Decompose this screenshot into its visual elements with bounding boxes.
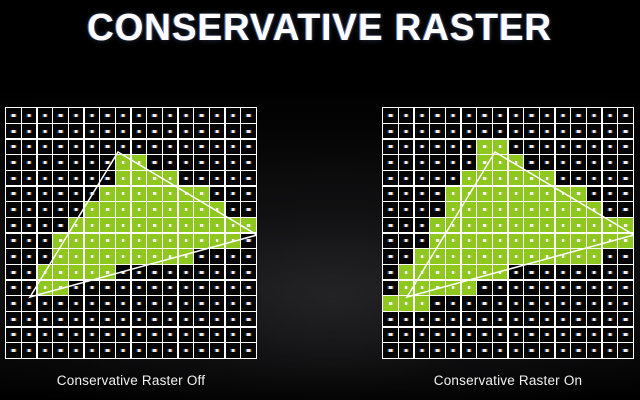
pixel-cell <box>477 343 491 357</box>
pixel-cell <box>179 296 193 310</box>
pixel-cell <box>446 265 460 279</box>
pixel-cell <box>399 312 413 326</box>
pixel-cell <box>147 155 161 169</box>
pixel-cell <box>524 140 538 154</box>
pixel-cell <box>462 234 476 248</box>
pixel-cell <box>587 343 601 357</box>
pixel-cell <box>38 140 52 154</box>
pixel-cell <box>6 328 20 342</box>
pixel-cell <box>22 312 36 326</box>
panel-conservative-raster-off: Conservative Raster Off <box>5 107 257 359</box>
pixel-cell <box>53 234 67 248</box>
pixel-cell <box>383 218 397 232</box>
pixel-cell <box>540 281 554 295</box>
pixel-cell <box>446 296 460 310</box>
pixel-cell <box>100 296 114 310</box>
pixel-cell <box>383 249 397 263</box>
pixel-cell <box>493 140 507 154</box>
pixel-cell <box>462 343 476 357</box>
pixel-cell <box>132 155 146 169</box>
pixel-cell <box>477 140 491 154</box>
pixel-cell <box>509 108 523 122</box>
pixel-cell <box>399 140 413 154</box>
pixel-cell <box>618 296 632 310</box>
pixel-cell <box>430 171 444 185</box>
pixel-cell <box>556 343 570 357</box>
pixel-cell <box>210 265 224 279</box>
pixel-cell <box>493 202 507 216</box>
pixel-cell <box>241 124 255 138</box>
pixel-cell <box>383 234 397 248</box>
pixel-cell <box>147 202 161 216</box>
pixel-cell <box>226 343 240 357</box>
pixel-cell <box>556 265 570 279</box>
pixel-cell <box>116 328 130 342</box>
pixel-cell <box>509 281 523 295</box>
pixel-cell <box>179 249 193 263</box>
pixel-cell <box>556 187 570 201</box>
pixel-cell <box>226 202 240 216</box>
pixel-cell <box>69 202 83 216</box>
pixel-cell <box>100 281 114 295</box>
pixel-cell <box>587 140 601 154</box>
pixel-cell <box>603 171 617 185</box>
pixel-cell <box>241 234 255 248</box>
pixel-cell <box>116 234 130 248</box>
pixel-cell <box>116 281 130 295</box>
pixel-cell <box>38 155 52 169</box>
pixel-cell <box>147 249 161 263</box>
pixel-cell <box>179 218 193 232</box>
pixel-cell <box>179 281 193 295</box>
pixel-cell <box>493 249 507 263</box>
pixel-cell <box>399 187 413 201</box>
pixel-cell <box>509 328 523 342</box>
pixel-cell <box>540 234 554 248</box>
pixel-cell <box>540 265 554 279</box>
pixel-cell <box>226 140 240 154</box>
pixel-cell <box>618 202 632 216</box>
pixel-cell <box>100 265 114 279</box>
pixel-cell <box>383 328 397 342</box>
pixel-cell <box>446 312 460 326</box>
pixel-cell <box>493 218 507 232</box>
pixel-cell <box>571 234 585 248</box>
pixel-cell <box>587 296 601 310</box>
pixel-cell <box>22 187 36 201</box>
pixel-cell <box>226 312 240 326</box>
pixel-cell <box>430 312 444 326</box>
pixel-cell <box>477 249 491 263</box>
pixel-cell <box>132 296 146 310</box>
pixel-cell <box>509 140 523 154</box>
pixel-cell <box>383 108 397 122</box>
pixel-cell <box>587 265 601 279</box>
pixel-cell <box>399 202 413 216</box>
pixel-cell <box>462 312 476 326</box>
pixel-cell <box>383 296 397 310</box>
pixel-cell <box>524 312 538 326</box>
pixel-cell <box>587 328 601 342</box>
pixel-cell <box>493 265 507 279</box>
pixel-cell <box>226 187 240 201</box>
pixel-cell <box>446 171 460 185</box>
pixel-cell <box>179 202 193 216</box>
pixel-cell <box>22 171 36 185</box>
pixel-cell <box>415 124 429 138</box>
pixel-cell <box>22 140 36 154</box>
pixel-cell <box>462 124 476 138</box>
pixel-cell <box>462 328 476 342</box>
pixel-cell <box>556 234 570 248</box>
pixel-cell <box>147 187 161 201</box>
pixel-cell <box>147 296 161 310</box>
pixel-cell <box>462 140 476 154</box>
pixel-cell <box>147 218 161 232</box>
pixel-cell <box>493 281 507 295</box>
pixel-cell <box>179 343 193 357</box>
pixel-cell <box>618 343 632 357</box>
pixel-cell <box>509 265 523 279</box>
pixel-cell <box>38 265 52 279</box>
pixel-cell <box>415 171 429 185</box>
pixel-cell <box>603 249 617 263</box>
pixel-cell <box>69 312 83 326</box>
pixel-cell <box>618 171 632 185</box>
pixel-cell <box>415 328 429 342</box>
pixel-cell <box>147 171 161 185</box>
pixel-cell <box>132 218 146 232</box>
pixel-cell <box>603 218 617 232</box>
pixel-cell <box>618 281 632 295</box>
pixel-cell <box>147 124 161 138</box>
pixel-cell <box>163 140 177 154</box>
pixel-cell <box>556 140 570 154</box>
pixel-cell <box>383 202 397 216</box>
pixel-cell <box>556 218 570 232</box>
pixel-cell <box>6 234 20 248</box>
pixel-cell <box>85 108 99 122</box>
pixel-cell <box>477 328 491 342</box>
pixel-cell <box>226 155 240 169</box>
pixel-cell <box>194 124 208 138</box>
pixel-cell <box>540 343 554 357</box>
pixel-cell <box>241 218 255 232</box>
pixel-cell <box>446 124 460 138</box>
pixel-cell <box>53 171 67 185</box>
pixel-cell <box>603 187 617 201</box>
pixel-cell <box>415 155 429 169</box>
pixel-cell <box>179 155 193 169</box>
pixel-cell <box>6 281 20 295</box>
pixel-cell <box>540 328 554 342</box>
pixel-cell <box>618 328 632 342</box>
pixel-cell <box>38 124 52 138</box>
pixel-cell <box>226 281 240 295</box>
pixel-cell <box>509 218 523 232</box>
pixel-cell <box>571 249 585 263</box>
pixel-cell <box>116 312 130 326</box>
pixel-cell <box>210 249 224 263</box>
pixel-cell <box>179 312 193 326</box>
pixel-cell <box>587 171 601 185</box>
pixel-cell <box>618 140 632 154</box>
pixel-cell <box>163 171 177 185</box>
pixel-cell <box>132 312 146 326</box>
pixel-cell <box>69 343 83 357</box>
pixel-cell <box>430 249 444 263</box>
pixel-cell <box>415 108 429 122</box>
pixel-cell <box>53 281 67 295</box>
pixel-cell <box>116 296 130 310</box>
pixel-cell <box>462 218 476 232</box>
pixel-cell <box>241 108 255 122</box>
pixel-cell <box>116 155 130 169</box>
pixel-cell <box>179 140 193 154</box>
pixel-cell <box>415 343 429 357</box>
pixel-cell <box>462 155 476 169</box>
pixel-cell <box>603 265 617 279</box>
pixel-cell <box>241 140 255 154</box>
pixel-cell <box>415 265 429 279</box>
pixel-cell <box>163 249 177 263</box>
pixel-cell <box>163 218 177 232</box>
pixel-cell <box>477 202 491 216</box>
pixel-cell <box>399 343 413 357</box>
pixel-cell <box>571 343 585 357</box>
pixel-cell <box>477 187 491 201</box>
pixel-cell <box>38 281 52 295</box>
pixel-cell <box>163 296 177 310</box>
pixel-cell <box>524 155 538 169</box>
pixel-cell <box>6 312 20 326</box>
pixel-cell <box>22 202 36 216</box>
pixel-cell <box>430 328 444 342</box>
pixel-cell <box>446 328 460 342</box>
pixel-cell <box>241 296 255 310</box>
pixel-cell <box>53 155 67 169</box>
pixel-cell <box>116 124 130 138</box>
pixel-cell <box>446 155 460 169</box>
pixel-cell <box>85 234 99 248</box>
pixel-cell <box>540 108 554 122</box>
pixel-cell <box>38 171 52 185</box>
pixel-cell <box>116 108 130 122</box>
pixel-cell <box>509 249 523 263</box>
pixel-cell <box>100 108 114 122</box>
pixel-cell <box>571 140 585 154</box>
pixel-cell <box>194 296 208 310</box>
pixel-cell <box>587 187 601 201</box>
pixel-cell <box>446 140 460 154</box>
pixel-cell <box>462 202 476 216</box>
pixel-cell <box>85 124 99 138</box>
pixel-cell <box>22 343 36 357</box>
pixel-cell <box>524 187 538 201</box>
pixel-cell <box>38 187 52 201</box>
pixel-cell <box>540 171 554 185</box>
pixel-cell <box>618 312 632 326</box>
pixel-cell <box>100 124 114 138</box>
pixel-cell <box>22 108 36 122</box>
pixel-cell <box>226 249 240 263</box>
pixel-cell <box>147 281 161 295</box>
pixel-cell <box>132 281 146 295</box>
pixel-cell <box>587 312 601 326</box>
pixel-cell <box>524 328 538 342</box>
pixel-cell <box>556 155 570 169</box>
pixel-cell <box>69 328 83 342</box>
pixel-cell <box>85 281 99 295</box>
pixel-cell <box>383 140 397 154</box>
pixel-cell <box>85 265 99 279</box>
pixel-cell <box>194 281 208 295</box>
pixel-cell <box>85 343 99 357</box>
pixel-cell <box>22 328 36 342</box>
pixel-cell <box>415 234 429 248</box>
pixel-cell <box>556 281 570 295</box>
pixel-cell <box>53 249 67 263</box>
pixel-cell <box>430 218 444 232</box>
pixel-cell <box>147 108 161 122</box>
pixel-cell <box>415 296 429 310</box>
pixel-cell <box>210 171 224 185</box>
pixel-cell <box>446 202 460 216</box>
pixel-cell <box>571 265 585 279</box>
pixel-cell <box>241 312 255 326</box>
pixel-cell <box>132 249 146 263</box>
pixel-cell <box>38 218 52 232</box>
pixel-cell <box>383 124 397 138</box>
pixel-cell <box>241 202 255 216</box>
pixel-cell <box>493 343 507 357</box>
pixel-cell <box>163 265 177 279</box>
pixel-cell <box>69 296 83 310</box>
pixel-cell <box>524 108 538 122</box>
pixel-cell <box>147 265 161 279</box>
pixel-cell <box>603 108 617 122</box>
pixel-cell <box>210 187 224 201</box>
pixel-cell <box>53 124 67 138</box>
pixel-cell <box>210 296 224 310</box>
pixel-cell <box>446 218 460 232</box>
pixel-cell <box>462 265 476 279</box>
pixel-cell <box>430 265 444 279</box>
pixel-cell <box>415 312 429 326</box>
pixel-cell <box>524 343 538 357</box>
pixel-cell <box>147 140 161 154</box>
pixel-cell <box>85 202 99 216</box>
pixel-cell <box>100 218 114 232</box>
pixel-cell <box>53 312 67 326</box>
pixel-cell <box>85 312 99 326</box>
pixel-cell <box>524 249 538 263</box>
pixel-cell <box>430 343 444 357</box>
pixel-cell <box>226 296 240 310</box>
pixel-cell <box>100 187 114 201</box>
pixel-cell <box>194 218 208 232</box>
pixel-grid-cells-on <box>382 107 634 359</box>
pixel-cell <box>6 155 20 169</box>
pixel-cell <box>241 281 255 295</box>
pixel-cell <box>163 328 177 342</box>
caption-conservative-raster-on: Conservative Raster On <box>358 373 640 388</box>
pixel-cell <box>132 202 146 216</box>
pixel-cell <box>603 281 617 295</box>
pixel-cell <box>100 343 114 357</box>
pixel-cell <box>69 124 83 138</box>
pixel-cell <box>116 249 130 263</box>
pixel-cell <box>477 265 491 279</box>
pixel-cell <box>383 343 397 357</box>
pixel-cell <box>53 343 67 357</box>
pixel-cell <box>194 343 208 357</box>
pixel-cell <box>69 140 83 154</box>
pixel-cell <box>241 249 255 263</box>
pixel-cell <box>603 343 617 357</box>
pixel-cell <box>571 171 585 185</box>
pixel-cell <box>462 296 476 310</box>
pixel-cell <box>603 312 617 326</box>
pixel-cell <box>509 187 523 201</box>
pixel-cell <box>571 202 585 216</box>
pixel-cell <box>571 155 585 169</box>
pixel-cell <box>383 171 397 185</box>
pixel-cell <box>571 281 585 295</box>
pixel-cell <box>477 312 491 326</box>
pixel-cell <box>587 155 601 169</box>
pixel-cell <box>399 171 413 185</box>
pixel-cell <box>556 296 570 310</box>
pixel-cell <box>524 234 538 248</box>
pixel-cell <box>226 171 240 185</box>
pixel-cell <box>22 249 36 263</box>
pixel-cell <box>132 140 146 154</box>
pixel-cell <box>556 202 570 216</box>
pixel-cell <box>22 218 36 232</box>
pixel-cell <box>524 202 538 216</box>
pixel-cell <box>556 171 570 185</box>
pixel-cell <box>6 108 20 122</box>
pixel-cell <box>116 140 130 154</box>
pixel-cell <box>446 234 460 248</box>
pixel-cell <box>194 108 208 122</box>
pixel-cell <box>603 124 617 138</box>
pixel-cell <box>210 108 224 122</box>
pixel-cell <box>179 328 193 342</box>
pixel-cell <box>540 155 554 169</box>
pixel-cell <box>100 155 114 169</box>
pixel-cell <box>524 265 538 279</box>
pixel-cell <box>194 171 208 185</box>
pixel-cell <box>430 124 444 138</box>
pixel-cell <box>53 187 67 201</box>
pixel-cell <box>618 249 632 263</box>
pixel-cell <box>210 202 224 216</box>
pixel-cell <box>116 265 130 279</box>
pixel-cell <box>85 171 99 185</box>
pixel-cell <box>163 187 177 201</box>
slide-canvas: CONSERVATIVE RASTER Conservative Raster … <box>0 0 640 400</box>
pixel-cell <box>509 202 523 216</box>
pixel-cell <box>540 124 554 138</box>
pixel-cell <box>194 312 208 326</box>
pixel-cell <box>163 343 177 357</box>
pixel-cell <box>430 281 444 295</box>
pixel-cell <box>210 218 224 232</box>
pixel-cell <box>540 140 554 154</box>
pixel-cell <box>85 155 99 169</box>
